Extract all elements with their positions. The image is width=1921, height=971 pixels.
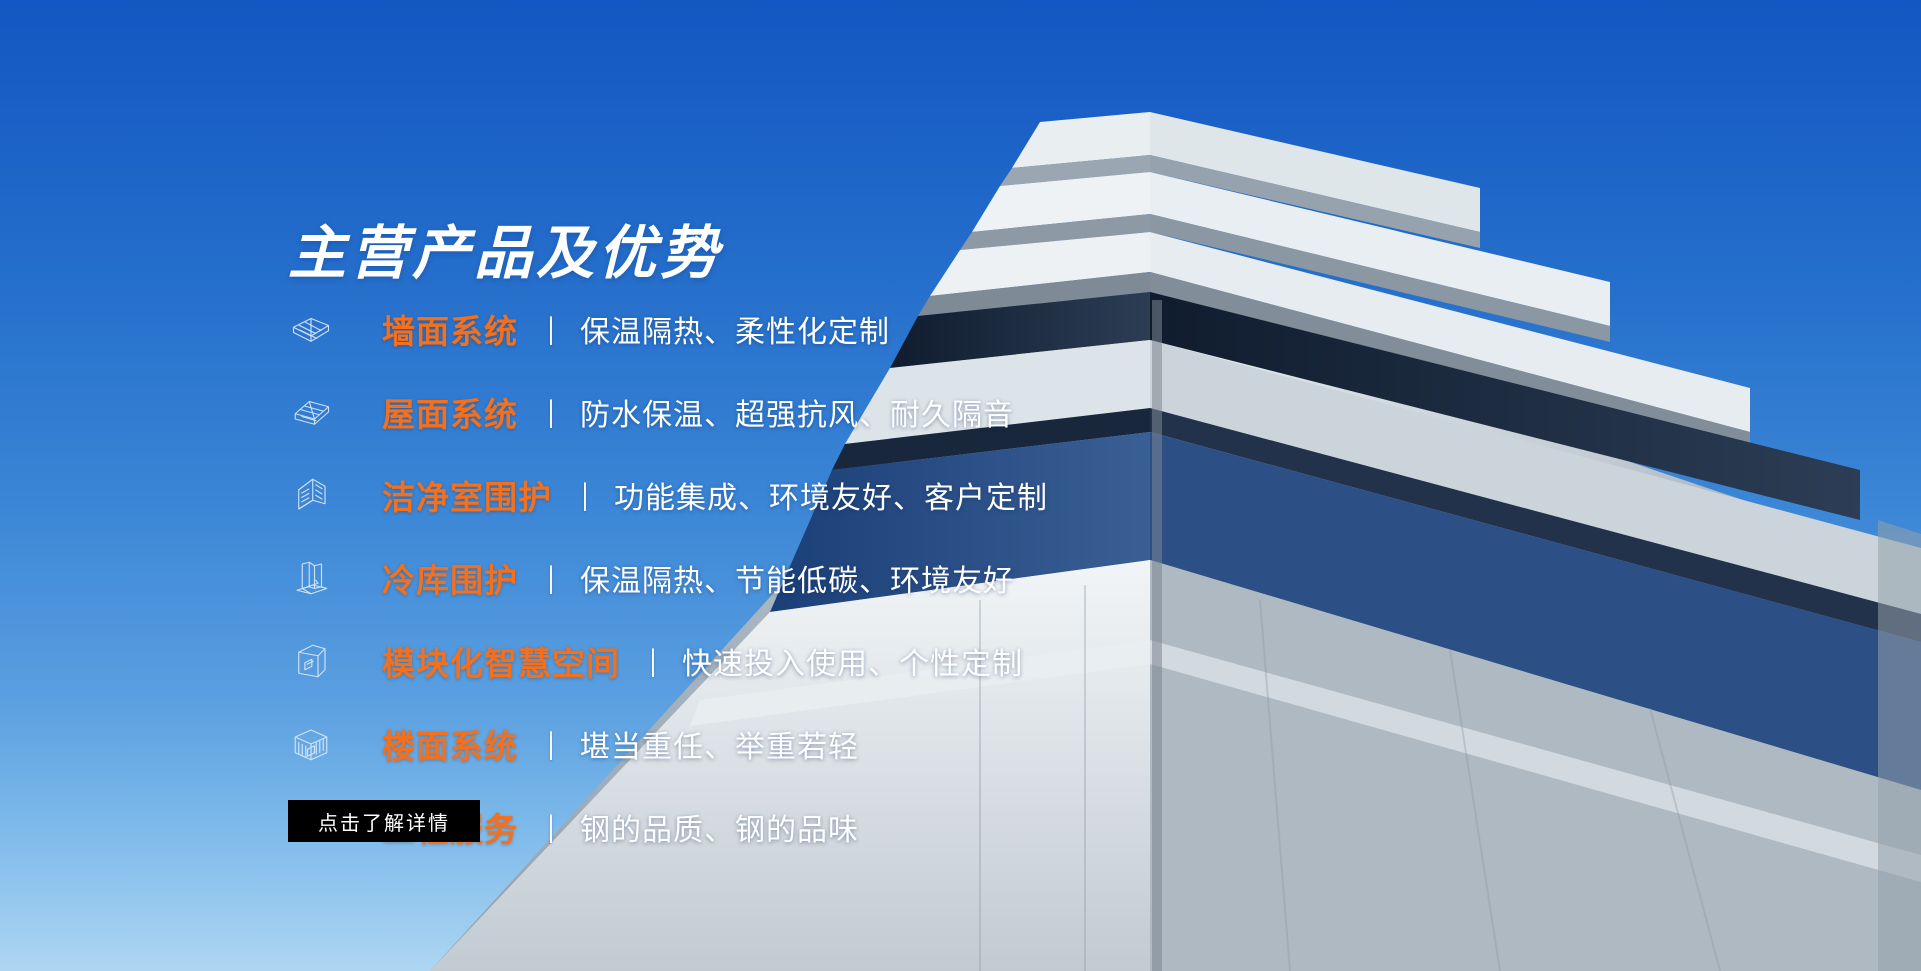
modular-cube-icon — [288, 638, 334, 684]
feature-description: 保温隔热、柔性化定制 — [580, 307, 890, 351]
feature-list: 墙面系统 丨 保温隔热、柔性化定制 屋面系统 丨 防水保温、超强抗 — [288, 300, 1048, 881]
feature-separator: 丨 — [543, 556, 560, 600]
feature-description: 功能集成、环境友好、客户定制 — [614, 473, 1048, 517]
feature-name: 屋面系统 — [382, 388, 518, 436]
hero-banner: 主营产品及优势 墙面系统 丨 保温隔热、柔性化定制 — [0, 0, 1921, 971]
feature-name: 洁净室围护 — [382, 471, 552, 519]
list-item[interactable]: 墙面系统 丨 保温隔热、柔性化定制 — [288, 300, 1048, 358]
feature-separator: 丨 — [543, 307, 560, 351]
list-item[interactable]: 楼面系统 丨 堪当重任、举重若轻 — [288, 715, 1048, 773]
list-item[interactable]: 洁净室围护 丨 功能集成、环境友好、客户定制 — [288, 466, 1048, 524]
list-item[interactable]: 模块化智慧空间 丨 快速投入使用、个性定制 — [288, 632, 1048, 690]
feature-separator: 丨 — [543, 390, 560, 434]
cold-storage-icon — [288, 555, 334, 601]
feature-name: 墙面系统 — [382, 305, 518, 353]
list-item[interactable]: 屋面系统 丨 防水保温、超强抗风、耐久隔音 — [288, 383, 1048, 441]
feature-separator: 丨 — [543, 722, 560, 766]
feature-separator: 丨 — [543, 805, 560, 849]
roof-panel-icon — [288, 389, 334, 435]
feature-description: 钢的品质、钢的品味 — [580, 805, 859, 849]
feature-description: 保温隔热、节能低碳、环境友好 — [580, 556, 1014, 600]
feature-separator: 丨 — [645, 639, 662, 683]
feature-description: 防水保温、超强抗风、耐久隔音 — [580, 390, 1014, 434]
feature-name: 楼面系统 — [382, 720, 518, 768]
floor-deck-icon — [288, 721, 334, 767]
cleanroom-building-icon — [288, 472, 334, 518]
feature-description: 快速投入使用、个性定制 — [682, 639, 1023, 683]
page-title: 主营产品及优势 — [288, 206, 722, 290]
feature-separator: 丨 — [577, 473, 594, 517]
wall-panel-icon — [288, 306, 334, 352]
list-item[interactable]: 冷库围护 丨 保温隔热、节能低碳、环境友好 — [288, 549, 1048, 607]
feature-description: 堪当重任、举重若轻 — [580, 722, 859, 766]
learn-more-button[interactable]: 点击了解详情 — [288, 800, 480, 842]
feature-name: 模块化智慧空间 — [382, 637, 620, 685]
feature-name: 冷库围护 — [382, 554, 518, 602]
hero-content: 主营产品及优势 墙面系统 丨 保温隔热、柔性化定制 — [0, 0, 1100, 971]
